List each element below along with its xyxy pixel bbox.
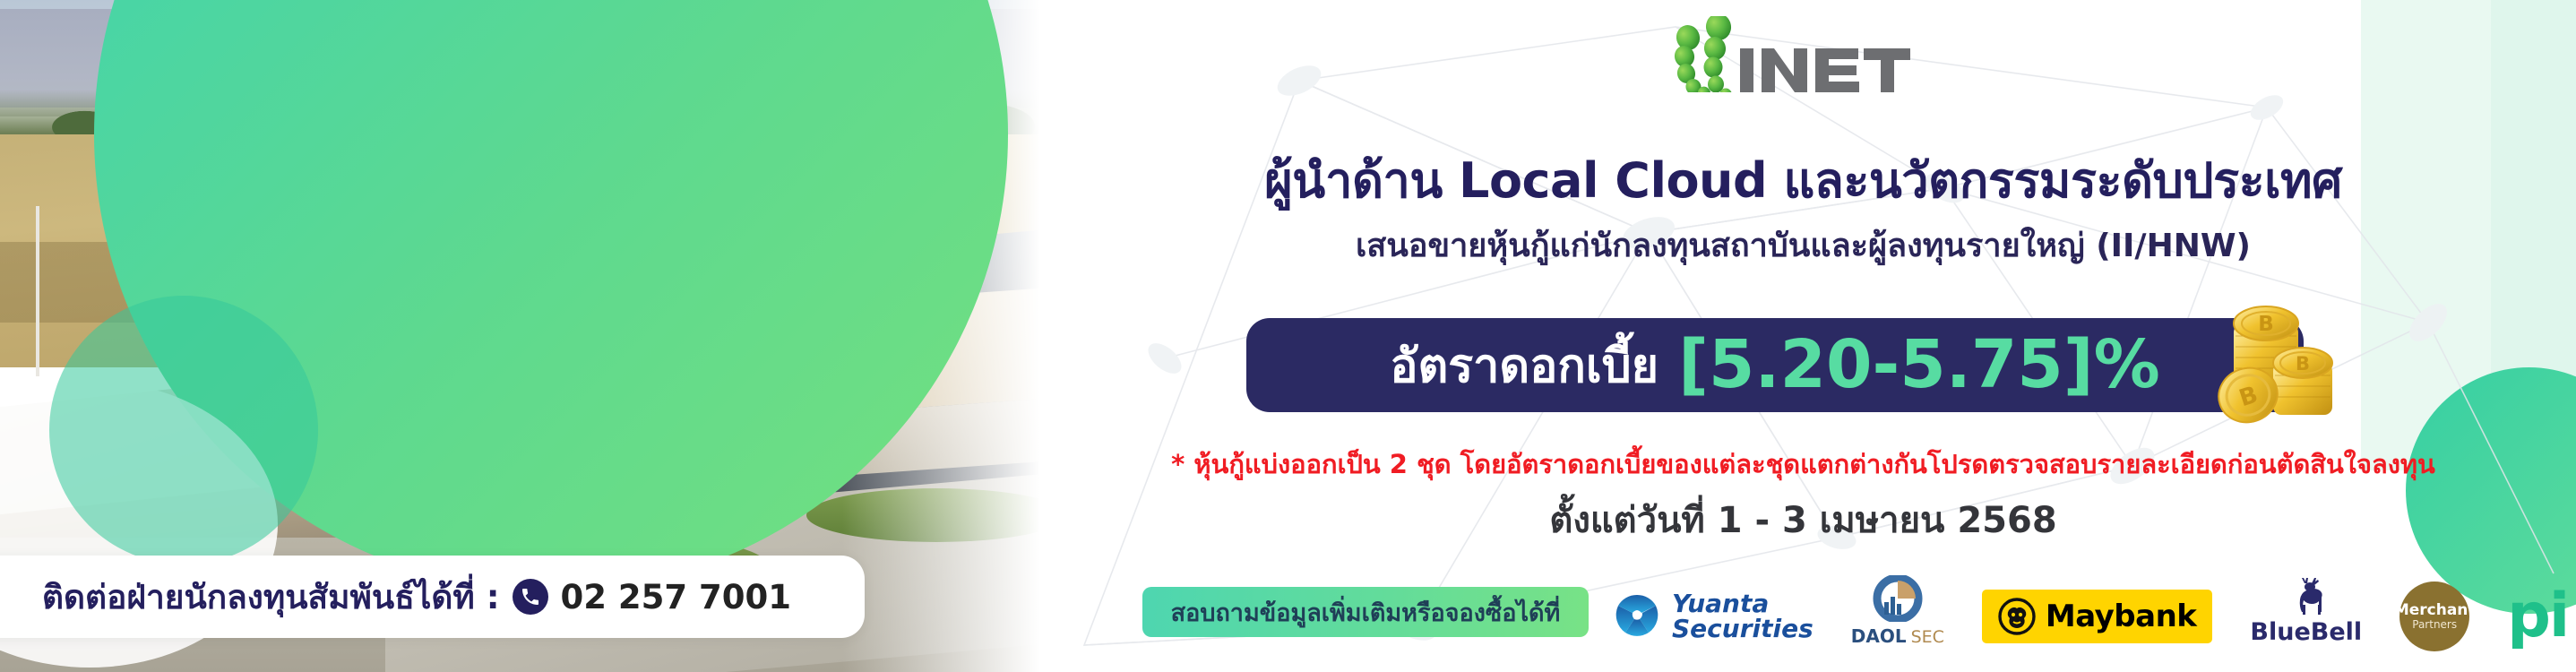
photo-pole: [36, 206, 39, 376]
broker-name-line1: DAOL: [1851, 625, 1907, 647]
gold-coins-icon: B B: [2187, 293, 2344, 427]
content-column: ผู้นำด้าน Local Cloud และนวัตกรรมระดับปร…: [1030, 0, 2576, 672]
inet-logo: [1649, 16, 1944, 92]
page-subtitle: เสนอขายหุ้นกู้แก่นักลงทุนสถาบันและผู้ลงท…: [1030, 220, 2576, 271]
broker-daol-sec[interactable]: DAOL SEC: [1851, 575, 1944, 658]
page-title: ผู้นำด้าน Local Cloud และนวัตกรรมระดับปร…: [1030, 142, 2576, 219]
broker-bluebell[interactable]: BlueBell: [2250, 575, 2362, 658]
yuanta-star-icon: [1613, 592, 1661, 641]
bluebell-deer-icon: [2285, 575, 2328, 616]
inet-wordmark: [1740, 48, 1910, 92]
daol-circle-icon: [1872, 575, 1924, 622]
broker-name-line1: Yuanta: [1672, 591, 1814, 616]
contact-label: ติดต่อฝ่ายนักลงทุนสัมพันธ์ได้ที่ :: [42, 571, 500, 624]
offering-dateline: ตั้งแต่วันที่ 1 - 3 เมษายน 2568: [1030, 491, 2576, 548]
broker-name-line1: Merchant: [2394, 603, 2476, 619]
broker-name-line2: Partners: [2412, 619, 2457, 631]
broker-logo-row: Yuanta Securities DAOL SEC: [1613, 572, 2563, 661]
broker-merchant-partners[interactable]: Merchant Partners: [2399, 575, 2469, 658]
broker-pi[interactable]: pi: [2507, 575, 2568, 658]
banner-root: ผู้นำด้าน Local Cloud และนวัตกรรมระดับปร…: [0, 0, 2576, 672]
cta-button[interactable]: สอบถามข้อมูลเพิ่มเติมหรือจองซื้อได้ที่: [1142, 587, 1589, 637]
interest-rate-label: อัตราดอกเบี้ย: [1390, 328, 1658, 402]
svg-text:B: B: [2296, 353, 2310, 375]
broker-maybank[interactable]: Maybank: [1982, 575, 2213, 658]
interest-rate-value: [5.20-5.75]%: [1678, 333, 2160, 396]
maybank-tiger-icon: [1998, 598, 2036, 635]
interest-rate-box: อัตราดอกเบี้ย [5.20-5.75]%: [1246, 318, 2304, 412]
inet-dots-icon: [1672, 16, 1733, 92]
broker-name-line1: Maybank: [2046, 599, 2197, 634]
decor-green-circle-soft: [49, 296, 318, 564]
svg-text:B: B: [2258, 313, 2274, 336]
interest-rate-block: อัตราดอกเบี้ย [5.20-5.75]%: [1246, 318, 2335, 412]
broker-name-line1: BlueBell: [2250, 618, 2362, 646]
investor-relations-contact-card: ติดต่อฝ่ายนักลงทุนสัมพันธ์ได้ที่ : 02 25…: [0, 556, 865, 638]
phone-icon: [513, 579, 548, 615]
broker-name-line2: Securities: [1672, 616, 1814, 642]
disclaimer-note: * หุ้นกู้แบ่งออกเป็น 2 ชุด โดยอัตราดอกเบ…: [1030, 444, 2576, 485]
broker-name-line2: SEC: [1911, 627, 1944, 647]
broker-yuanta-securities[interactable]: Yuanta Securities: [1613, 575, 1814, 658]
broker-name-line1: pi: [2507, 591, 2568, 642]
contact-phone-number: 02 257 7001: [561, 578, 791, 616]
